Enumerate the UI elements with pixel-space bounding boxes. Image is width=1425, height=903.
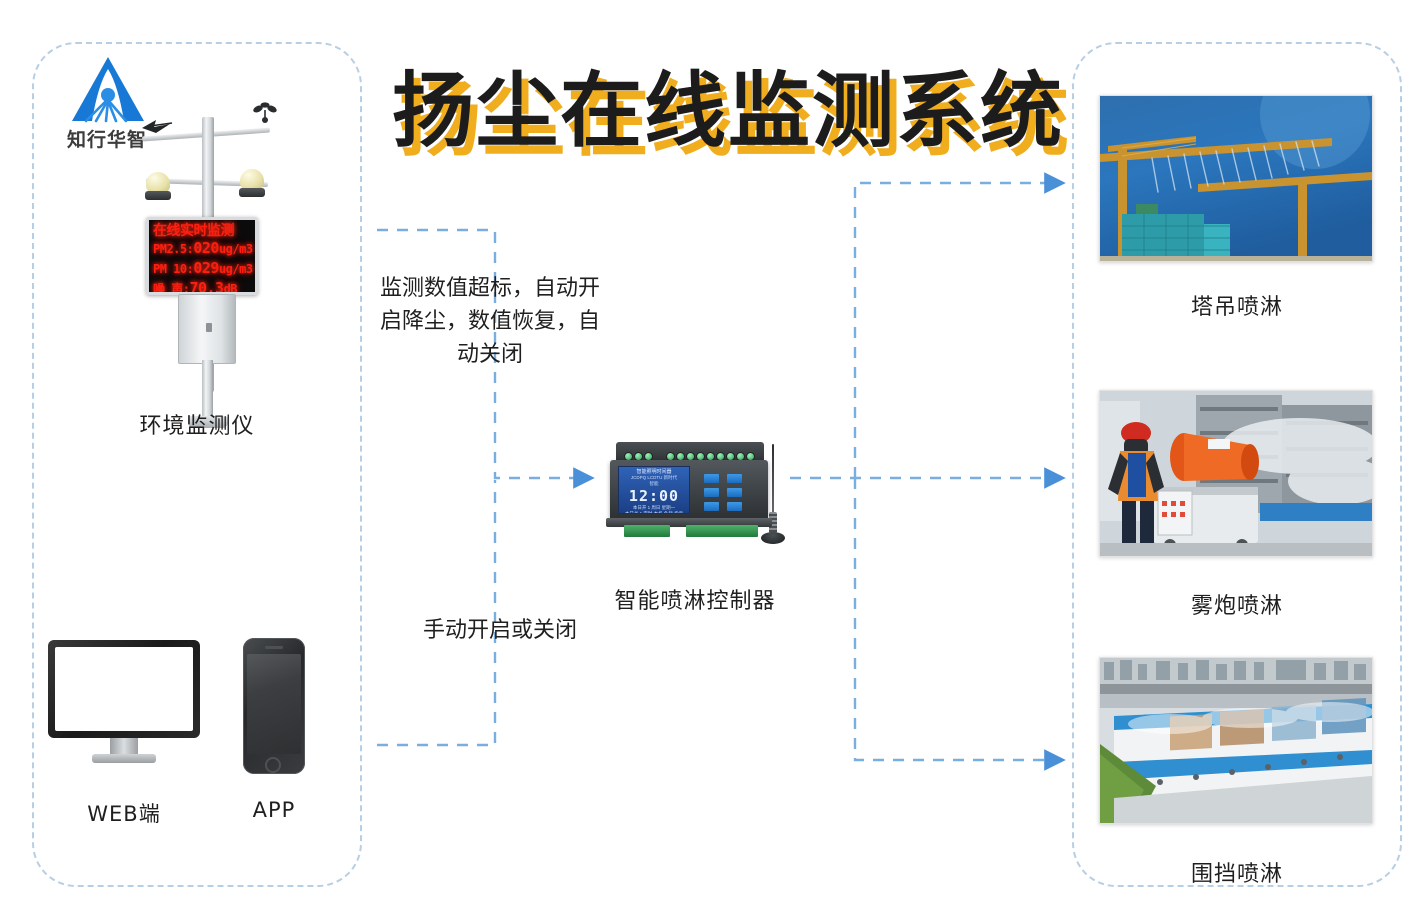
- controller-button-2[interactable]: [727, 474, 742, 483]
- desktop-monitor-icon: [48, 640, 200, 770]
- controller-terminal-block-right: [686, 525, 758, 537]
- phone-screen: [247, 654, 301, 754]
- dust-sensor-dome-right: [240, 169, 264, 189]
- fence-spray-photo: [1099, 657, 1373, 824]
- controller-button-5[interactable]: [704, 502, 719, 511]
- monitor-bezel: [48, 640, 200, 738]
- flow-manual-description: 手动开启或关闭: [385, 614, 615, 647]
- lcd-clock-value: 12:00: [619, 487, 689, 505]
- lcd-footer-2: 本日关 1 定时 本机 负载 指示: [619, 511, 689, 514]
- monitor-stand-base: [92, 754, 156, 763]
- led-row-noise: 噪 声:70.3dB: [153, 279, 251, 295]
- dust-sensor-dome-left: [146, 172, 170, 192]
- monitor-screen: [55, 647, 193, 731]
- smart-spray-controller: 智能照明时间器 JCDPQ LCDTU 新时代 智能 12:00 本日开 1 周…: [600, 430, 790, 555]
- station-caption: 环境监测仪: [32, 408, 362, 440]
- flow-line-to-fence: [855, 478, 1049, 760]
- led-noise-value: 70.3: [189, 279, 223, 295]
- station-control-cabinet: [178, 294, 236, 364]
- controller-caption: 智能喷淋控制器: [560, 583, 830, 615]
- page-title: 扬尘在线监测系统 扬尘在线监测系统: [378, 58, 1078, 168]
- led-pm10-unit: ug/m3: [219, 262, 253, 276]
- environment-monitor-station: 在线实时监测 PM2.5:020ug/m3 PM 10:029ug/m3 噪 声…: [110, 62, 310, 392]
- anemometer-icon: [250, 102, 280, 132]
- fog-cannon-caption: 雾炮喷淋: [1072, 588, 1402, 620]
- cabinet-lock-icon: [206, 323, 212, 332]
- flow-line-manual: [377, 480, 495, 745]
- flow-line-to-crane: [855, 183, 1049, 478]
- led-display-title: 在线实时监测: [153, 223, 251, 239]
- led-pm10-label: PM 10:: [153, 262, 193, 276]
- fog-cannon-spray-photo: [1099, 390, 1373, 557]
- controller-terminal-block-left: [624, 525, 670, 537]
- fence-caption: 围挡喷淋: [1072, 856, 1402, 888]
- controller-button-3[interactable]: [704, 488, 719, 497]
- led-pm25-label: PM2.5:: [153, 242, 193, 256]
- led-row-pm25: PM2.5:020ug/m3: [153, 239, 251, 259]
- phone-home-button: [265, 757, 281, 773]
- phone-speaker: [265, 646, 283, 649]
- tower-crane-caption: 塔吊喷淋: [1072, 289, 1402, 321]
- phone-body: [243, 638, 305, 774]
- tower-crane-spray-photo: [1099, 95, 1373, 262]
- led-pm10-value: 029: [193, 259, 219, 277]
- led-pm25-value: 020: [193, 239, 219, 257]
- wind-vane-icon: [140, 114, 174, 136]
- flow-auto-description: 监测数值超标，自动开启降尘，数值恢复，自动关闭: [375, 272, 605, 371]
- dust-sensor-base-left: [145, 191, 171, 200]
- controller-button-4[interactable]: [727, 488, 742, 497]
- smartphone-icon: [243, 638, 305, 774]
- controller-lcd-screen: 智能照明时间器 JCDPQ LCDTU 新时代 智能 12:00 本日开 1 周…: [618, 466, 690, 514]
- led-row-pm10: PM 10:029ug/m3: [153, 259, 251, 279]
- dust-sensor-base-right: [239, 188, 265, 197]
- controller-button-1[interactable]: [704, 474, 719, 483]
- app-client-caption: APP: [214, 798, 334, 822]
- antenna-rod: [772, 444, 774, 520]
- led-display-board: 在线实时监测 PM2.5:020ug/m3 PM 10:029ug/m3 噪 声…: [146, 217, 258, 295]
- led-pm25-unit: ug/m3: [219, 242, 253, 256]
- diagram-canvas: 扬尘在线监测系统 扬尘在线监测系统 知行华智: [0, 0, 1425, 903]
- web-client-caption: WEB端: [44, 798, 204, 828]
- controller-button-6[interactable]: [727, 502, 742, 511]
- antenna-magnetic-base: [761, 532, 785, 544]
- page-title-text: 扬尘在线监测系统: [378, 58, 1078, 166]
